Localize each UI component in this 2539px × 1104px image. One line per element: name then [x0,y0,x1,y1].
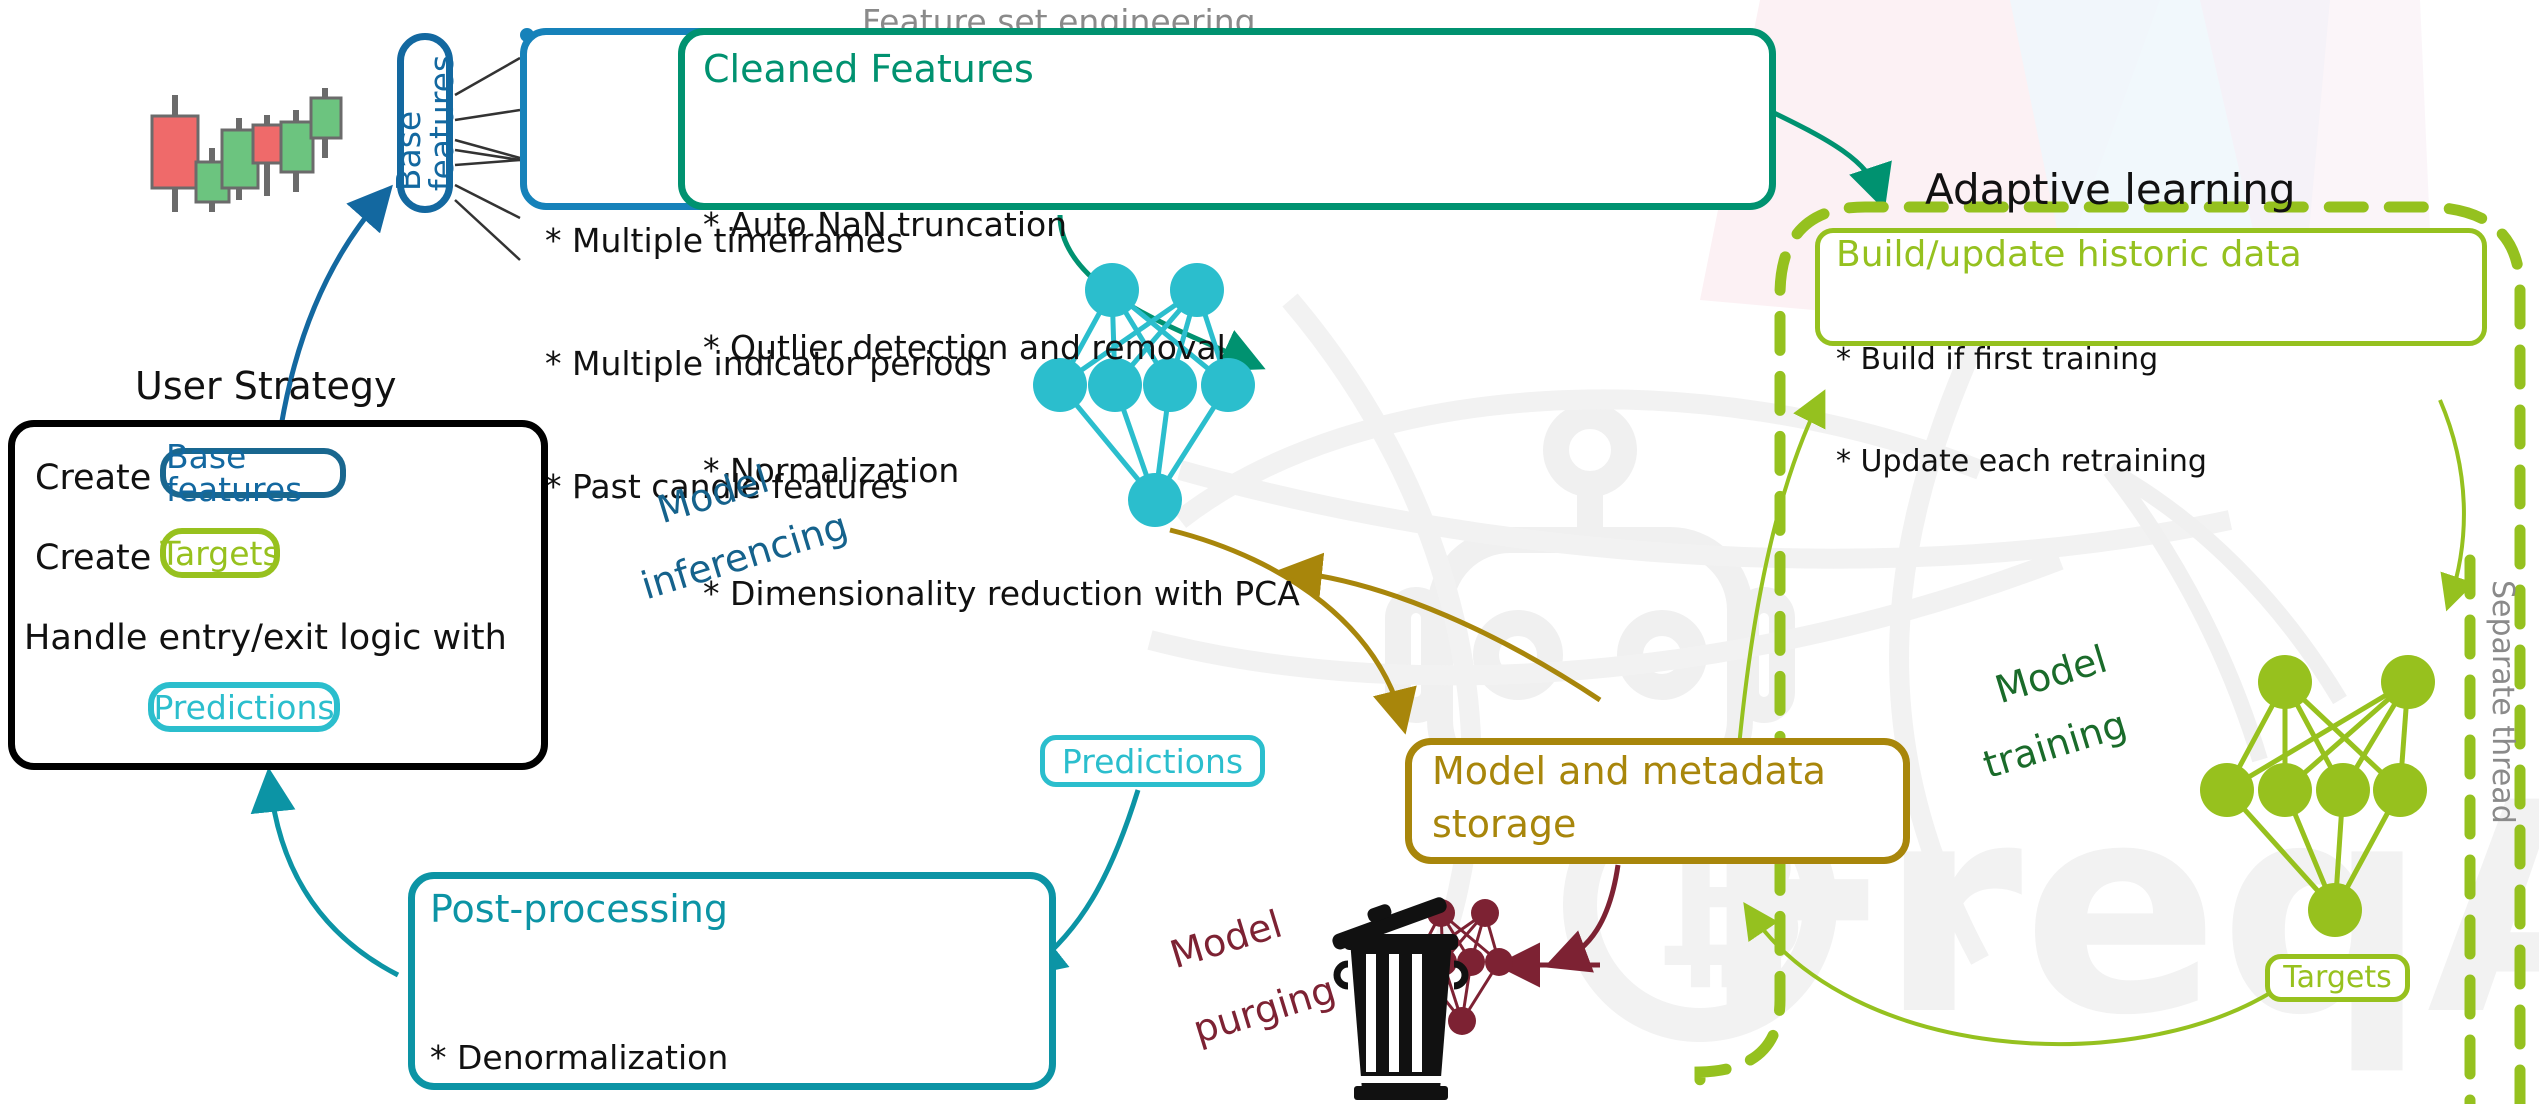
user-strategy-line-0-prefix: Create [35,458,162,498]
base-features-pill-label: Base features [392,55,458,191]
cleaned-bullet-0: * Auto NaN truncation [703,204,1300,245]
predictions-chip-label: Predictions [1062,745,1243,778]
chip-targets-label: Targets [160,537,279,570]
chip-predictions[interactable]: Predictions [148,682,340,732]
post-processing-title: Post-processing [430,890,728,928]
storage-title-line1: Model and metadata [1432,752,1826,790]
cleaned-bullet-1: * Outlier detection and removal [703,327,1300,368]
chip-base-features-label: Base features [166,440,340,506]
build-update-bullets: * Build if first training * Update each … [1836,275,2207,547]
targets-chip-label: Targets [2283,963,2391,993]
post-bullet-0: * Denormalization [430,1037,999,1078]
predictions-chip[interactable]: Predictions [1040,735,1265,787]
chip-targets[interactable]: Targets [160,528,280,578]
post-processing-bullets: * Denormalization * Gather statistical q… [430,955,999,1104]
cleaned-bullet-3: * Dimensionality reduction with PCA [703,573,1300,614]
storage-title-line2: storage [1432,805,1576,843]
user-strategy-line-1-prefix: Create [35,538,162,578]
diagram-canvas: FreqAI ₿ [0,0,2539,1104]
cleaned-features-title: Cleaned Features [703,50,1034,88]
build-bullet-0: * Build if first training [1836,343,2207,377]
adaptive-learning-label: Adaptive learning [1925,165,2296,214]
build-update-title: Build/update historic data [1836,237,2302,273]
targets-chip[interactable]: Targets [2265,954,2410,1002]
cleaned-bullet-2: * Normalization [703,450,1300,491]
chip-predictions-label: Predictions [153,691,334,724]
chip-base-features[interactable]: Base features [160,448,346,498]
base-features-pill[interactable]: Base features [397,33,453,213]
cleaned-features-bullets: * Auto NaN truncation * Outlier detectio… [703,122,1300,696]
separate-thread-label: Separate thread [2485,580,2520,824]
user-strategy-title: User Strategy [135,364,397,408]
build-bullet-1: * Update each retraining [1836,445,2207,479]
user-strategy-line-2-prefix: Handle entry/exit logic with [24,618,507,658]
